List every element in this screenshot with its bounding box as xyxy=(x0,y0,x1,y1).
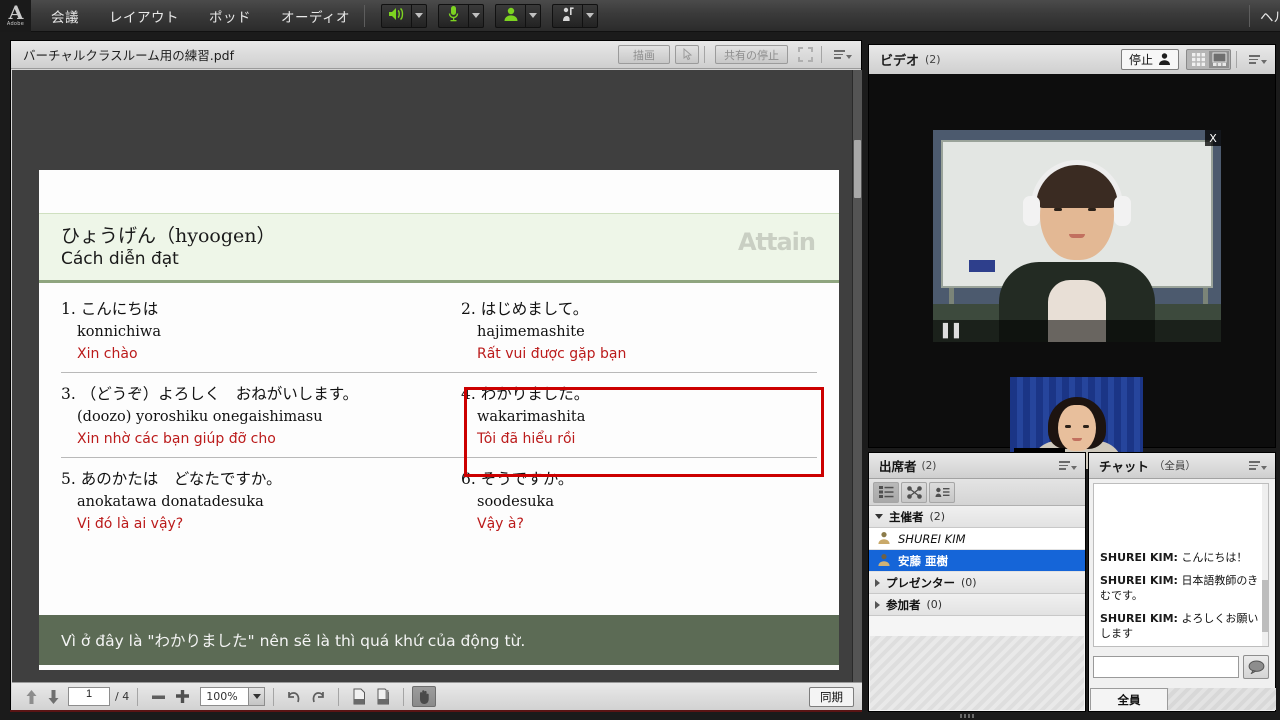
group-count: (2) xyxy=(930,510,946,523)
attendee-pod-titlebar: 出席者 (2) xyxy=(869,453,1085,479)
list-icon[interactable] xyxy=(873,482,899,503)
page-forward-icon[interactable] xyxy=(371,686,395,707)
share-pod: バーチャルクラスルーム用の練習.pdf 描画 共有の停止 xyxy=(10,40,862,712)
raise-hand-dropdown[interactable] xyxy=(582,4,598,28)
chat-sender: SHUREI KIM: xyxy=(1100,574,1178,587)
phrase-3-num: 3. xyxy=(61,385,76,403)
phrase-4-num: 4. xyxy=(461,385,476,403)
phrase-item-6: 6. そうですか。 soodesuka Vậy à? xyxy=(439,458,839,543)
raise-hand-icon xyxy=(560,6,576,26)
webcam-button[interactable] xyxy=(495,4,541,28)
group-label: 参加者 xyxy=(886,597,921,613)
menu-help[interactable]: ヘルプ xyxy=(1260,6,1280,26)
attendee-pod-title: 出席者 xyxy=(874,456,917,475)
chat-tab-everyone[interactable]: 全員 xyxy=(1090,688,1168,710)
zoom-value[interactable]: 100% xyxy=(200,687,248,706)
attendee-pod: 出席者 (2) xyxy=(868,452,1086,712)
undo-icon[interactable] xyxy=(282,686,306,707)
adobe-connect-window: A Adobe 会議 レイアウト ポッド オーディオ xyxy=(0,0,1280,720)
filmstrip-layout-icon[interactable] xyxy=(1209,51,1229,68)
arrow-up-icon[interactable] xyxy=(20,687,42,707)
group-count: (0) xyxy=(961,576,977,589)
chat-pod: チャット （全員） SHUREI KIM: こんにちは！ SHUREI KIM:… xyxy=(1088,452,1276,712)
attain-logo: Attain xyxy=(738,228,815,256)
pod-menu-icon[interactable] xyxy=(1248,50,1270,69)
menu-bar: A Adobe 会議 レイアウト ポッド オーディオ xyxy=(0,0,1280,32)
status-list-icon[interactable] xyxy=(929,482,955,503)
microphone-button[interactable] xyxy=(438,4,484,28)
chevron-down-icon[interactable] xyxy=(875,514,883,519)
stop-share-button[interactable]: 共有の停止 xyxy=(715,45,788,64)
phrase-5-vi: Vị đó là ai vậy? xyxy=(61,513,439,535)
speaker-dropdown[interactable] xyxy=(411,4,427,28)
microphone-dropdown[interactable] xyxy=(468,4,484,28)
chevron-right-icon[interactable] xyxy=(875,579,880,587)
microphone-icon xyxy=(447,5,460,26)
video-pod-titlebar: ビデオ (2) 停止 xyxy=(869,45,1275,74)
webcam-icon xyxy=(503,6,519,26)
phrase-5-num: 5. xyxy=(61,470,76,488)
menu-audio[interactable]: オーディオ xyxy=(279,3,352,29)
toolbar-divider-3 xyxy=(338,688,339,706)
video-toolbar-divider xyxy=(1236,51,1237,68)
share-pod-titlebar: バーチャルクラスルーム用の練習.pdf 描画 共有の停止 xyxy=(11,41,861,69)
phrase-1-num: 1. xyxy=(61,300,76,318)
raise-hand-button[interactable] xyxy=(552,4,598,28)
scrollbar-thumb[interactable] xyxy=(854,140,861,198)
phrase-4-vi: Tôi đã hiểu rồi xyxy=(461,428,839,450)
page-total-label: / 4 xyxy=(115,690,129,703)
attendee-row-shurei-kim[interactable]: SHUREI KIM xyxy=(869,528,1085,550)
chat-sender: SHUREI KIM: xyxy=(1100,612,1178,625)
slide-header: ひょうげん（hyoogen） Cách diễn đạt Attain xyxy=(39,213,839,283)
chat-scrollbar[interactable] xyxy=(1262,484,1268,646)
help-divider xyxy=(1249,5,1250,27)
redo-icon[interactable] xyxy=(306,686,330,707)
toolbar-divider-2 xyxy=(821,46,822,63)
page-number-input[interactable]: 1 xyxy=(68,687,110,706)
chat-message-list[interactable]: SHUREI KIM: こんにちは！ SHUREI KIM: 日本語教師のきむで… xyxy=(1093,483,1269,647)
phrase-3-romaji: (doozo) yoroshiku onegaishimasu xyxy=(61,406,439,428)
close-icon[interactable]: X xyxy=(1205,130,1221,146)
phrase-item-1: 1. こんにちは konnichiwa Xin chào xyxy=(39,288,439,373)
adobe-logo-text: Adobe xyxy=(7,21,24,27)
attendee-empty-area xyxy=(870,636,1084,710)
pointer-icon[interactable] xyxy=(675,45,699,64)
attendee-avatar-icon xyxy=(877,551,891,570)
share-pod-title: バーチャルクラスルーム用の練習.pdf xyxy=(17,45,613,64)
slide-footer-text: Vì ở đây là "わかりました" nên sẽ là thì quá k… xyxy=(39,629,525,651)
toolbar-divider-4 xyxy=(403,688,404,706)
chevron-right-icon[interactable] xyxy=(875,601,880,609)
phrase-row: 5. あのかたは どなたですか。 anokatawa donatadesuka … xyxy=(39,458,839,543)
phrase-4-jp: わかりました。 xyxy=(481,385,590,403)
group-label: 主催者 xyxy=(889,509,924,525)
phrase-5-jp: あのかたは どなたですか。 xyxy=(81,470,282,488)
headphone-right xyxy=(1114,196,1131,226)
phrase-item-2: 2. はじめまして。 hajimemashite Rất vui được gặ… xyxy=(439,288,839,373)
breakout-icon[interactable] xyxy=(901,482,927,503)
zoom-select[interactable]: 100% xyxy=(200,687,265,706)
phrase-1-vi: Xin chào xyxy=(61,343,439,365)
pod-menu-icon[interactable] xyxy=(1059,461,1080,470)
resize-grip[interactable] xyxy=(960,714,976,718)
group-label: プレゼンター xyxy=(886,575,955,591)
help-area: ヘルプ xyxy=(1249,0,1280,32)
document-viewport: ひょうげん（hyoogen） Cách diễn đạt Attain 1. こ… xyxy=(12,70,862,683)
attendee-row-ando-aki[interactable]: 安藤 亜樹 xyxy=(869,550,1085,572)
toolbar-divider-2 xyxy=(273,688,274,706)
phrase-2-num: 2. xyxy=(461,300,476,318)
slide-footer-note: Vì ở đây là "わかりました" nên sẽ là thì quá k… xyxy=(39,615,839,665)
chat-sender: SHUREI KIM: xyxy=(1100,551,1178,564)
attendee-toolbar xyxy=(869,479,1085,506)
adobe-logo: A Adobe xyxy=(0,0,31,32)
person2-head xyxy=(1058,405,1096,451)
attendee-name: SHUREI KIM xyxy=(898,532,966,546)
phrase-2-vi: Rất vui được gặp bạn xyxy=(461,343,839,365)
page-back-icon[interactable] xyxy=(347,686,371,707)
phrase-3-vi: Xin nhờ các bạn giúp đỡ cho xyxy=(61,428,439,450)
attendee-group-participants[interactable]: 参加者 (0) xyxy=(869,594,1085,616)
menu-pod[interactable]: ポッド xyxy=(207,3,253,29)
menu-layout[interactable]: レイアウト xyxy=(107,3,181,29)
chat-message: SHUREI KIM: よろしくお願いします xyxy=(1100,611,1262,641)
phrase-6-vi: Vậy à? xyxy=(461,513,839,535)
chat-tabs: 全員 xyxy=(1090,688,1276,710)
chat-pod-title: チャット xyxy=(1094,456,1149,475)
headphone-left xyxy=(1023,196,1040,226)
menu-items: 会議 レイアウト ポッド オーディオ xyxy=(49,3,352,29)
chat-pod-titlebar: チャット （全員） xyxy=(1089,453,1275,479)
video-pod: ビデオ (2) 停止 xyxy=(868,44,1276,448)
chat-bubble-icon[interactable] xyxy=(1243,655,1269,679)
stop-video-label: 停止 xyxy=(1129,51,1153,68)
bottom-strip xyxy=(0,712,1280,720)
document-scrollbar[interactable] xyxy=(852,70,862,683)
arrow-down-icon[interactable] xyxy=(42,687,64,707)
video-scene xyxy=(933,130,1221,342)
attendee-group-presenters[interactable]: プレゼンター (0) xyxy=(869,572,1085,594)
toolbar-divider xyxy=(137,688,138,706)
pod-menu-icon[interactable] xyxy=(1249,461,1270,470)
sync-button[interactable]: 同期 xyxy=(809,687,854,707)
chat-text: こんにちは！ xyxy=(1181,551,1247,564)
webcam-dropdown[interactable] xyxy=(525,4,541,28)
toolbar-divider xyxy=(704,46,705,63)
phrase-5-romaji: anokatawa donatadesuka xyxy=(61,491,439,513)
speaker-button[interactable] xyxy=(381,4,427,28)
phrase-4-romaji: wakarimashita xyxy=(461,406,839,428)
slide-heading-vi: Cách diễn đạt xyxy=(61,248,276,271)
video-pod-title: ビデオ xyxy=(874,50,919,69)
desk-object xyxy=(969,260,995,272)
video-pod-count: (2) xyxy=(919,53,941,66)
video-controls[interactable]: ▌▌ xyxy=(933,320,1221,342)
video-feeds: X ▌▌ 安藤 亜樹 xyxy=(869,74,1275,447)
phrase-2-romaji: hajimemashite xyxy=(461,321,839,343)
phrase-item-5: 5. あのかたは どなたですか。 anokatawa donatadesuka … xyxy=(39,458,439,543)
phrase-2-jp: はじめまして。 xyxy=(481,300,589,318)
attendee-name: 安藤 亜樹 xyxy=(898,553,948,569)
chat-input[interactable] xyxy=(1093,656,1239,678)
slide-canvas: ひょうげん（hyoogen） Cách diễn đạt Attain 1. こ… xyxy=(39,170,839,670)
phrase-row: 3. （どうぞ）よろしく おねがいします。 (doozo) yoroshiku … xyxy=(39,373,839,458)
fullscreen-icon[interactable] xyxy=(794,45,816,64)
minus-icon[interactable] xyxy=(146,686,170,707)
phrase-6-romaji: soodesuka xyxy=(461,491,839,513)
av-controls xyxy=(381,4,598,28)
chat-message: SHUREI KIM: 日本語教師のきむです。 xyxy=(1100,573,1262,603)
phrase-6-num: 6. xyxy=(461,470,476,488)
menu-meeting[interactable]: 会議 xyxy=(49,3,81,29)
chat-message: SHUREI KIM: こんにちは！ xyxy=(1100,550,1262,565)
plus-icon[interactable] xyxy=(170,686,194,707)
grid-layout-icon[interactable] xyxy=(1188,51,1208,68)
person-icon xyxy=(1158,52,1171,68)
stop-video-button[interactable]: 停止 xyxy=(1121,49,1179,70)
video-feed-main[interactable]: X ▌▌ xyxy=(933,130,1221,342)
phrase-1-jp: こんにちは xyxy=(81,300,159,318)
menu-divider xyxy=(364,5,365,27)
hand-tool-icon[interactable] xyxy=(412,686,436,707)
phrase-3-jp: （どうぞ）よろしく おねがいします。 xyxy=(81,385,358,403)
phrase-item-3: 3. （どうぞ）よろしく おねがいします。 (doozo) yoroshiku … xyxy=(39,373,439,458)
slide-heading-jp: ひょうげん（hyoogen） xyxy=(61,224,276,248)
phrase-1-romaji: konnichiwa xyxy=(61,321,439,343)
video-layout-toggle[interactable] xyxy=(1186,49,1231,70)
phrase-item-4: 4. わかりました。 wakarimashita Tôi đã hiểu rồi xyxy=(439,373,839,458)
chevron-down-icon[interactable] xyxy=(248,687,265,706)
draw-button[interactable]: 描画 xyxy=(618,45,670,64)
pause-icon[interactable]: ▌▌ xyxy=(943,324,965,339)
attendee-group-hosts[interactable]: 主催者 (2) xyxy=(869,506,1085,528)
attendee-pod-count: (2) xyxy=(917,460,937,472)
phrase-grid: 1. こんにちは konnichiwa Xin chào 2. はじめまして。 … xyxy=(39,288,839,613)
phrase-row: 1. こんにちは konnichiwa Xin chào 2. はじめまして。 … xyxy=(39,288,839,373)
group-count: (0) xyxy=(927,598,943,611)
chat-input-row xyxy=(1093,653,1273,681)
pod-menu-icon[interactable] xyxy=(833,45,855,64)
chat-pod-scope: （全員） xyxy=(1149,458,1196,473)
speaker-icon xyxy=(387,6,406,26)
adobe-logo-mark: A xyxy=(9,5,23,21)
attendee-avatar-icon xyxy=(877,529,891,548)
share-pod-toolbar: 1 / 4 100% xyxy=(12,682,862,710)
phrase-6-jp: そうですか。 xyxy=(481,470,574,488)
